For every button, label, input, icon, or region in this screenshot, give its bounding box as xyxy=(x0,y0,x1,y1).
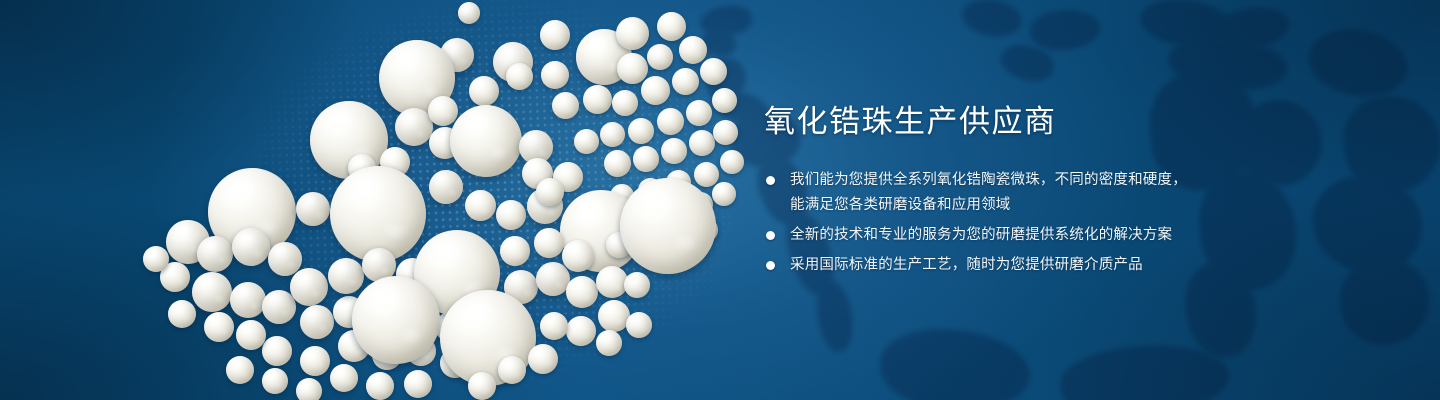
zirconia-bead xyxy=(232,228,270,266)
bullet-text-line: 我们能为您提供全系列氧化锆陶瓷微珠，不同的密度和硬度， xyxy=(790,168,1204,193)
zirconia-bead xyxy=(600,122,625,147)
zirconia-bead xyxy=(236,320,266,350)
zirconia-bead xyxy=(686,100,712,126)
bullet-dot-icon xyxy=(766,176,775,185)
zirconia-bead xyxy=(633,146,659,172)
zirconia-bead xyxy=(712,88,737,113)
zirconia-bead xyxy=(540,312,568,340)
zirconia-bead xyxy=(712,182,736,206)
zirconia-bead xyxy=(204,312,234,342)
bullet-text-line: 全新的技术和专业的服务为您的研磨提供系统化的解决方案 xyxy=(790,223,1204,248)
zirconia-bead xyxy=(713,120,738,145)
zirconia-bead xyxy=(506,63,533,90)
zirconia-bead xyxy=(450,105,522,177)
zirconia-bead xyxy=(429,170,463,204)
zirconia-bead xyxy=(574,129,599,154)
zirconia-bead xyxy=(262,368,288,394)
zirconia-bead xyxy=(541,61,569,89)
feature-bullet: 采用国际标准的生产工艺，随时为您提供研磨介质产品 xyxy=(764,253,1204,278)
zirconia-bead xyxy=(540,20,570,50)
zirconia-bead xyxy=(197,236,233,272)
zirconia-bead xyxy=(720,150,744,174)
zirconia-bead xyxy=(192,272,232,312)
zirconia-bead xyxy=(290,268,328,306)
zirconia-bead xyxy=(612,90,638,116)
bullet-text-line: 采用国际标准的生产工艺，随时为您提供研磨介质产品 xyxy=(790,253,1204,278)
zirconia-bead xyxy=(552,92,579,119)
zirconia-bead xyxy=(262,336,292,366)
zirconia-bead xyxy=(562,240,594,272)
zirconia-bead xyxy=(689,130,715,156)
zirconia-bead xyxy=(296,192,330,226)
zirconia-bead xyxy=(468,372,496,400)
zirconia-bead xyxy=(498,356,526,384)
feature-bullet: 全新的技术和专业的服务为您的研磨提供系统化的解决方案 xyxy=(764,223,1204,248)
zirconia-bead xyxy=(230,282,266,318)
zirconia-bead xyxy=(328,258,364,294)
feature-bullet: 我们能为您提供全系列氧化锆陶瓷微珠，不同的密度和硬度，能满足您各类研磨设备和应用… xyxy=(764,168,1204,218)
zirconia-bead xyxy=(300,346,330,376)
zirconia-bead xyxy=(226,356,254,384)
bullet-dot-icon xyxy=(766,231,775,240)
zirconia-bead xyxy=(596,330,622,356)
banner-copy: 氧化锆珠生产供应商 我们能为您提供全系列氧化锆陶瓷微珠，不同的密度和硬度，能满足… xyxy=(764,104,1204,278)
zirconia-bead xyxy=(143,246,169,272)
zirconia-bead xyxy=(168,300,196,328)
zirconia-bead xyxy=(626,312,652,338)
zirconia-bead xyxy=(617,53,648,84)
zirconia-bead xyxy=(404,370,432,398)
zirconia-bead xyxy=(352,276,440,364)
zirconia-bead xyxy=(465,190,496,221)
zirconia-bead xyxy=(647,44,673,70)
zirconia-bead xyxy=(583,85,612,114)
zirconia-bead xyxy=(496,200,526,230)
zirconia-bead xyxy=(566,276,598,308)
zirconia-bead xyxy=(500,236,530,266)
zirconia-bead xyxy=(661,138,687,164)
zirconia-bead xyxy=(300,305,334,339)
zirconia-bead xyxy=(458,2,480,24)
zirconia-bead xyxy=(566,316,596,346)
bullet-text-line: 能满足您各类研磨设备和应用领域 xyxy=(790,193,1204,218)
zirconia-bead xyxy=(700,58,727,85)
hero-banner: 氧化锆珠生产供应商 我们能为您提供全系列氧化锆陶瓷微珠，不同的密度和硬度，能满足… xyxy=(0,0,1440,400)
zirconia-bead xyxy=(616,17,649,50)
zirconia-bead xyxy=(536,178,564,206)
page-title: 氧化锆珠生产供应商 xyxy=(764,104,1204,140)
zirconia-bead xyxy=(657,108,684,135)
zirconia-bead xyxy=(679,36,707,64)
zirconia-bead xyxy=(428,96,458,126)
bullet-dot-icon xyxy=(766,261,775,270)
zirconia-bead xyxy=(620,178,716,274)
zirconia-beads-photo xyxy=(0,0,780,400)
zirconia-bead xyxy=(366,372,394,400)
zirconia-bead xyxy=(296,378,322,400)
zirconia-bead xyxy=(624,272,650,298)
zirconia-bead xyxy=(641,76,670,105)
zirconia-bead xyxy=(469,76,499,106)
feature-bullet-list: 我们能为您提供全系列氧化锆陶瓷微珠，不同的密度和硬度，能满足您各类研磨设备和应用… xyxy=(764,168,1204,278)
zirconia-bead xyxy=(694,162,719,187)
zirconia-bead xyxy=(628,118,654,144)
zirconia-bead xyxy=(672,68,699,95)
zirconia-bead xyxy=(330,364,358,392)
zirconia-bead xyxy=(536,262,570,296)
zirconia-bead xyxy=(604,150,631,177)
zirconia-bead xyxy=(657,12,686,41)
zirconia-bead xyxy=(534,228,564,258)
zirconia-bead xyxy=(528,344,558,374)
